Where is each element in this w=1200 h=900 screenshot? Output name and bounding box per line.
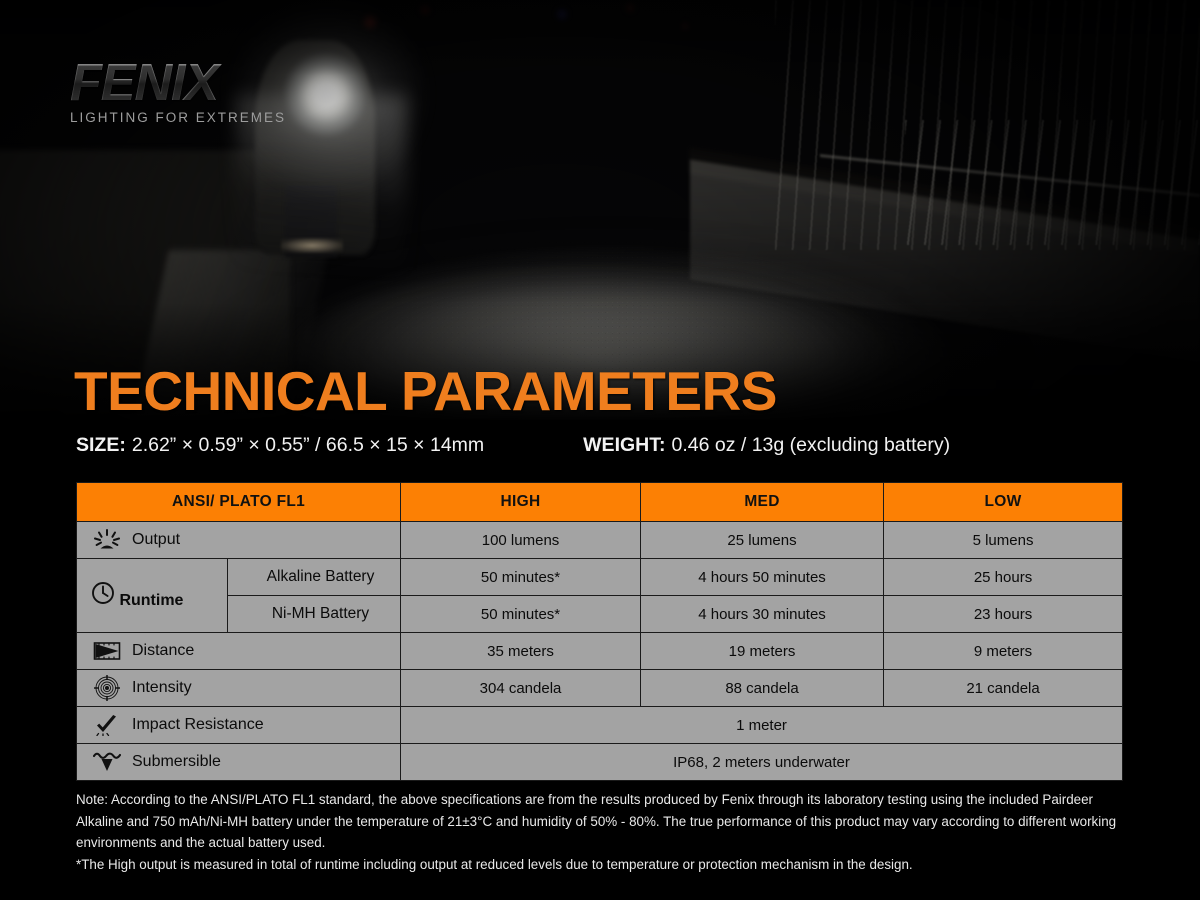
- row-label-text: Impact Resistance: [132, 716, 264, 734]
- fenix-logo: FENIX LIGHTING FOR EXTREMES: [70, 57, 286, 125]
- cell-distance-high: 35 meters: [401, 633, 641, 670]
- table-body: Output 100 lumens 25 lumens 5 lumens: [77, 522, 1123, 781]
- footnote-standard-note: Note: According to the ANSI/PLATO FL1 st…: [76, 789, 1122, 854]
- weight-spec: WEIGHT: 0.46 oz / 13g (excluding battery…: [583, 436, 950, 456]
- table-row-distance: Distance 35 meters 19 meters 9 meters: [77, 633, 1123, 670]
- column-header-high: HIGH: [401, 483, 641, 522]
- cell-runtime-nimh-high: 50 minutes*: [401, 596, 641, 633]
- cell-output-med: 25 lumens: [641, 522, 884, 559]
- row-label-text: Intensity: [132, 679, 192, 697]
- sunburst-icon: [91, 529, 123, 551]
- row-label-text: Runtime: [119, 592, 183, 609]
- row-label-output: Output: [77, 522, 401, 559]
- target-intensity-icon: [91, 675, 123, 701]
- sub-label-alkaline-battery: Alkaline Battery: [228, 559, 401, 596]
- sub-label-nimh-battery: Ni-MH Battery: [228, 596, 401, 633]
- clock-icon: [91, 592, 119, 609]
- cell-runtime-alkaline-low: 25 hours: [884, 559, 1123, 596]
- beam-distance-icon: [91, 641, 123, 661]
- row-label-text: Distance: [132, 642, 194, 660]
- table-row-submersible: Submersible IP68, 2 meters underwater: [77, 744, 1123, 781]
- column-header-low: LOW: [884, 483, 1123, 522]
- row-label-intensity: Intensity: [77, 670, 401, 707]
- cell-intensity-high: 304 candela: [401, 670, 641, 707]
- table-header-row: ANSI/ PLATO FL1 HIGH MED LOW: [77, 483, 1123, 522]
- table-row-runtime-nimh: Ni-MH Battery 50 minutes* 4 hours 30 min…: [77, 596, 1123, 633]
- product-spec-page: FENIX LIGHTING FOR EXTREMES TECHNICAL PA…: [0, 0, 1200, 900]
- cell-runtime-nimh-low: 23 hours: [884, 596, 1123, 633]
- cell-submersible-value: IP68, 2 meters underwater: [401, 744, 1123, 781]
- cell-distance-low: 9 meters: [884, 633, 1123, 670]
- footnote-high-output-note: *The High output is measured in total of…: [76, 854, 1122, 876]
- row-label-runtime: Runtime: [77, 559, 228, 633]
- submersible-icon: [91, 751, 123, 773]
- cell-output-low: 5 lumens: [884, 522, 1123, 559]
- column-header-med: MED: [641, 483, 884, 522]
- row-label-impact-resistance: Impact Resistance: [77, 707, 401, 744]
- row-label-text: Output: [132, 531, 180, 549]
- row-label-submersible: Submersible: [77, 744, 401, 781]
- size-label: SIZE:: [76, 436, 126, 456]
- logo-wordmark: FENIX: [70, 57, 286, 109]
- technical-parameters-table: ANSI/ PLATO FL1 HIGH MED LOW: [76, 482, 1123, 781]
- cell-runtime-alkaline-med: 4 hours 50 minutes: [641, 559, 884, 596]
- table-row-intensity: Intensity 304 candela 88 candela 21 cand…: [77, 670, 1123, 707]
- size-value: 2.62” × 0.59” × 0.55” / 66.5 × 15 × 14mm: [132, 436, 484, 456]
- page-title: TECHNICAL PARAMETERS: [74, 364, 777, 419]
- table-header: ANSI/ PLATO FL1 HIGH MED LOW: [77, 483, 1123, 522]
- row-label-distance: Distance: [77, 633, 401, 670]
- impact-check-icon: [91, 714, 123, 736]
- size-weight-line: SIZE: 2.62” × 0.59” × 0.55” / 66.5 × 15 …: [76, 436, 1126, 456]
- cell-runtime-nimh-med: 4 hours 30 minutes: [641, 596, 884, 633]
- table-row-impact-resistance: Impact Resistance 1 meter: [77, 707, 1123, 744]
- column-header-standard: ANSI/ PLATO FL1: [77, 483, 401, 522]
- size-spec: SIZE: 2.62” × 0.59” × 0.55” / 66.5 × 15 …: [76, 436, 484, 456]
- row-label-text: Submersible: [132, 753, 221, 771]
- logo-tagline: LIGHTING FOR EXTREMES: [70, 111, 286, 125]
- cell-intensity-med: 88 candela: [641, 670, 884, 707]
- cell-intensity-low: 21 candela: [884, 670, 1123, 707]
- spec-spacer: [484, 436, 583, 456]
- footnote-block: Note: According to the ANSI/PLATO FL1 st…: [76, 789, 1122, 876]
- cell-impact-resistance-value: 1 meter: [401, 707, 1123, 744]
- cell-output-high: 100 lumens: [401, 522, 641, 559]
- cell-runtime-alkaline-high: 50 minutes*: [401, 559, 641, 596]
- table-row-output: Output 100 lumens 25 lumens 5 lumens: [77, 522, 1123, 559]
- weight-value: 0.46 oz / 13g (excluding battery): [671, 436, 950, 456]
- cell-distance-med: 19 meters: [641, 633, 884, 670]
- weight-label: WEIGHT:: [583, 436, 665, 456]
- table-row-runtime-alkaline: Runtime Alkaline Battery 50 minutes* 4 h…: [77, 559, 1123, 596]
